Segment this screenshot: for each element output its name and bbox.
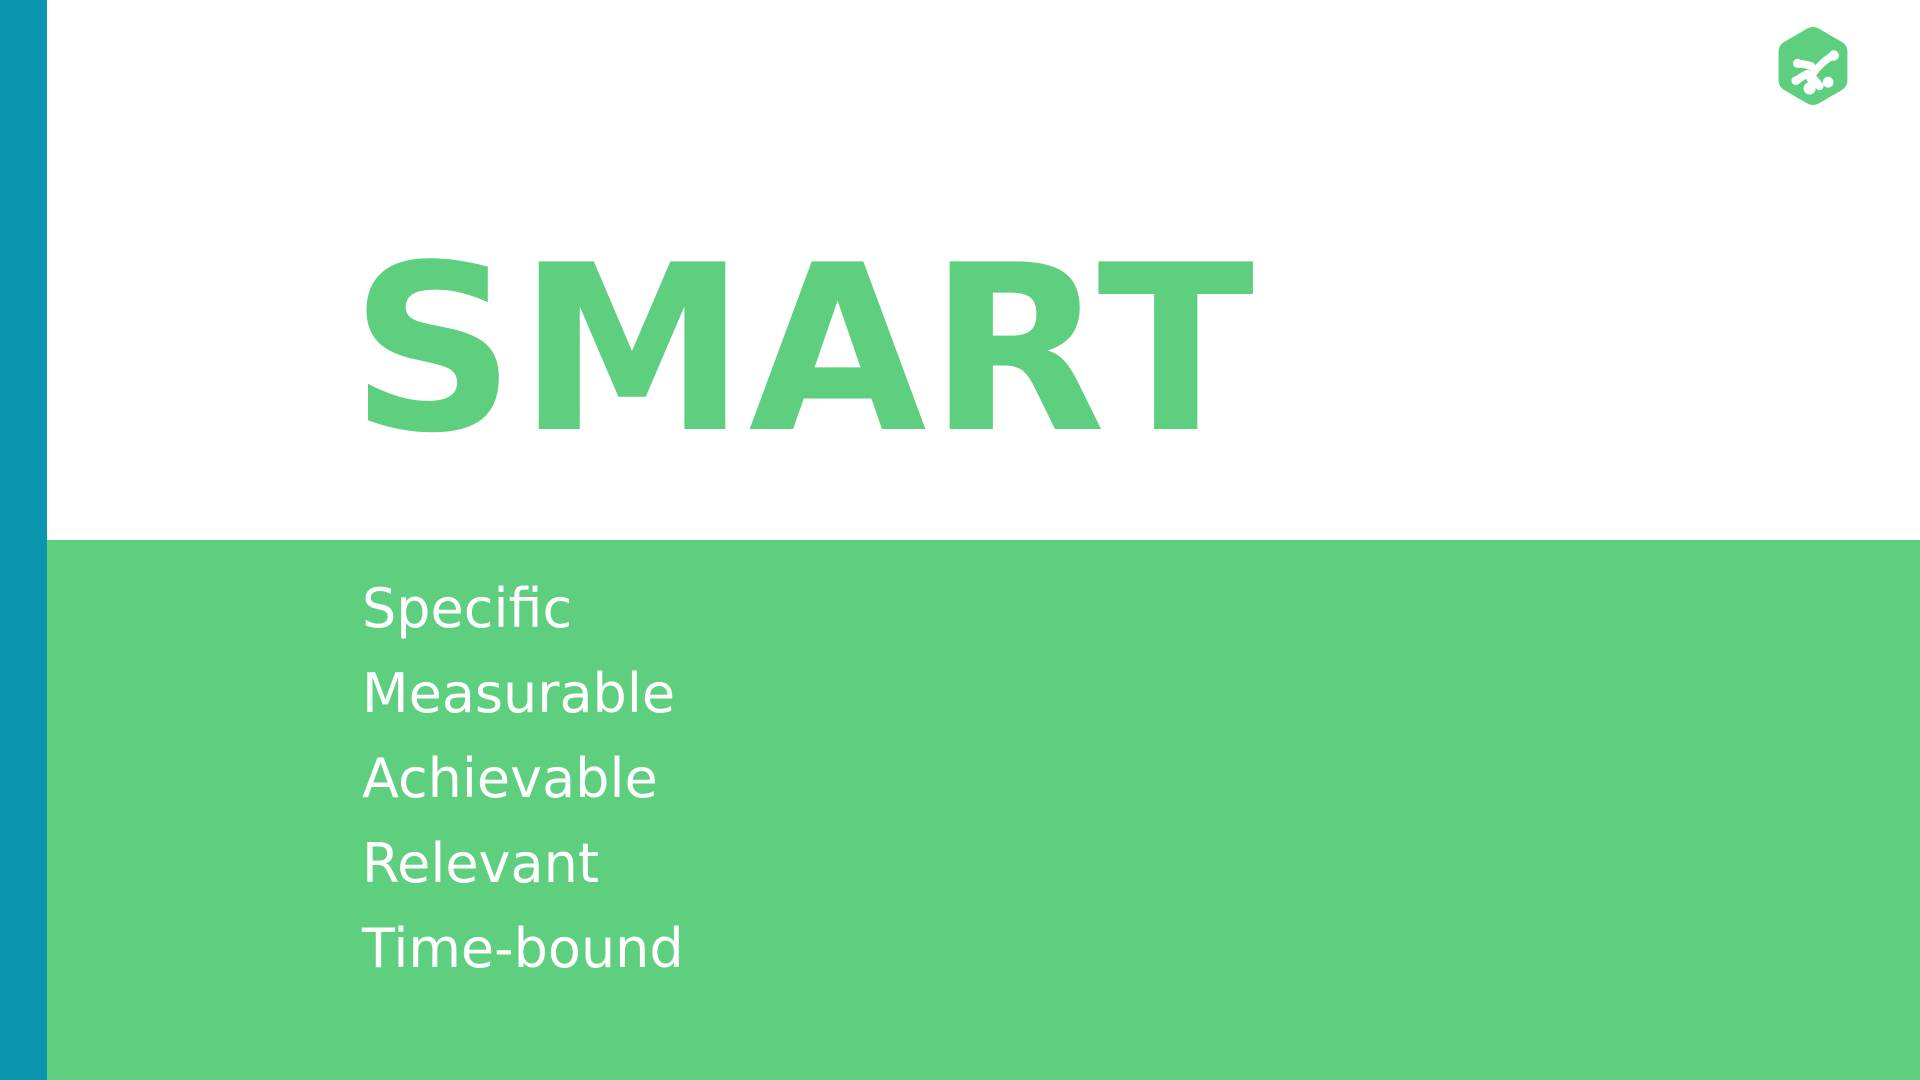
list-item: Achievable: [362, 736, 684, 821]
branching-tree-hexagon-icon: [1773, 24, 1853, 108]
list-item: Time-bound: [362, 906, 684, 991]
list-item: Specific: [362, 566, 684, 651]
page-title: SMART: [350, 236, 1256, 466]
list-item: Measurable: [362, 651, 684, 736]
acronym-list: Specific Measurable Achievable Relevant …: [362, 566, 684, 991]
brand-logo: [1773, 24, 1853, 108]
list-item: Relevant: [362, 821, 684, 906]
content-band: [0, 540, 1920, 1080]
slide: SMART Specific Measurable Achievable Rel…: [0, 0, 1920, 1080]
left-accent-bar: [0, 0, 47, 1080]
